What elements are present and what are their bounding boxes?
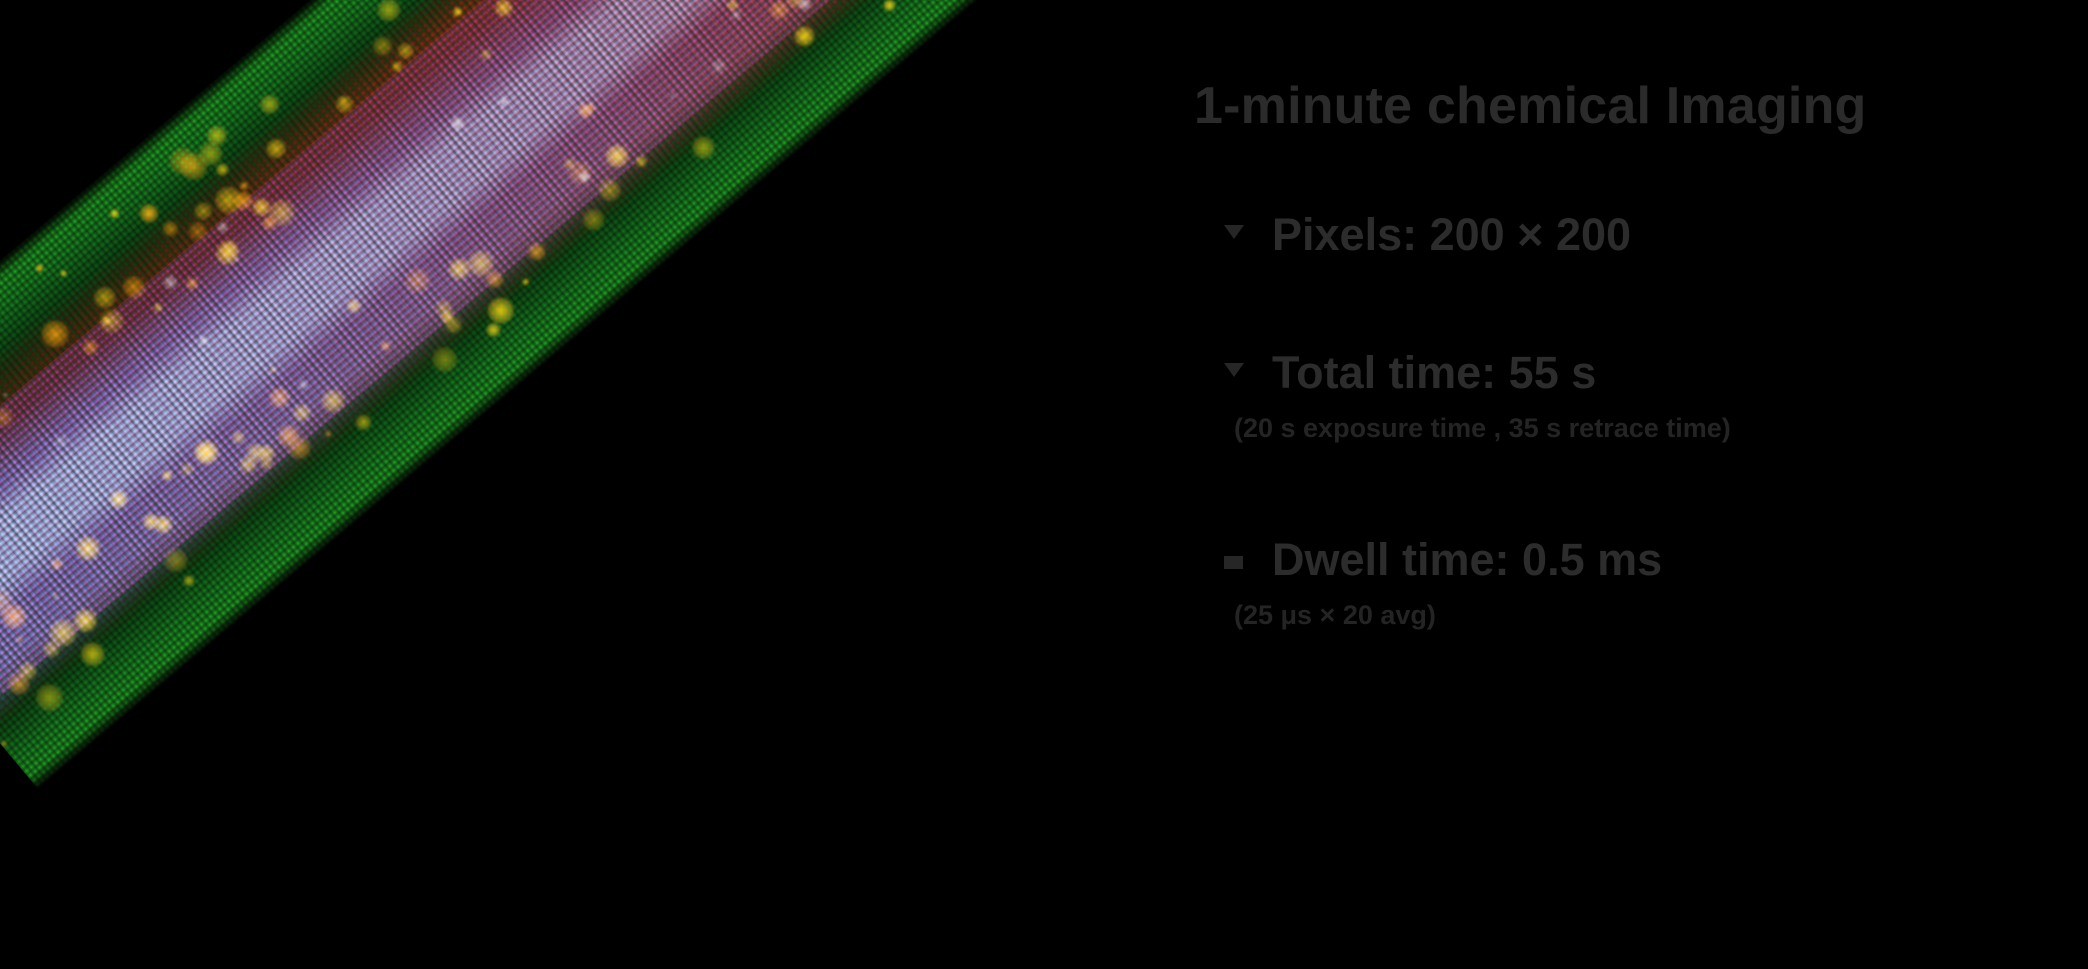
bullet-item-pixels: Pixels: 200 × 200: [1194, 209, 2028, 261]
slide-title: 1-minute chemical Imaging: [1194, 78, 2028, 135]
bullet-dwell-time-label: Dwell time: 0.5 ms: [1272, 534, 2028, 586]
bullet-pixels-label: Pixels: 200 × 200: [1272, 209, 2028, 261]
bullet-item-total-time: Total time: 55 s (20 s exposure time , 3…: [1194, 347, 2028, 448]
specimen-canvas: [0, 0, 1096, 969]
triangle-bullet-icon: [1224, 225, 1244, 239]
bullet-item-dwell-time: Dwell time: 0.5 ms (25 μs × 20 avg): [1194, 534, 2028, 635]
square-bullet-icon: [1224, 556, 1243, 569]
bullet-total-time-detail: (20 s exposure time , 35 s retrace time): [1234, 409, 1794, 448]
spec-bullet-list: Pixels: 200 × 200 Total time: 55 s (20 s…: [1194, 209, 2028, 635]
triangle-bullet-icon: [1224, 363, 1244, 377]
microscopy-figure: [0, 0, 1096, 969]
slide-root: 1-minute chemical Imaging Pixels: 200 × …: [0, 0, 2088, 969]
bullet-dwell-time-detail: (25 μs × 20 avg): [1234, 596, 1794, 635]
bullet-total-time-label: Total time: 55 s: [1272, 347, 2028, 399]
text-pane: 1-minute chemical Imaging Pixels: 200 × …: [1096, 0, 2088, 969]
specimen-band: [0, 0, 1096, 789]
